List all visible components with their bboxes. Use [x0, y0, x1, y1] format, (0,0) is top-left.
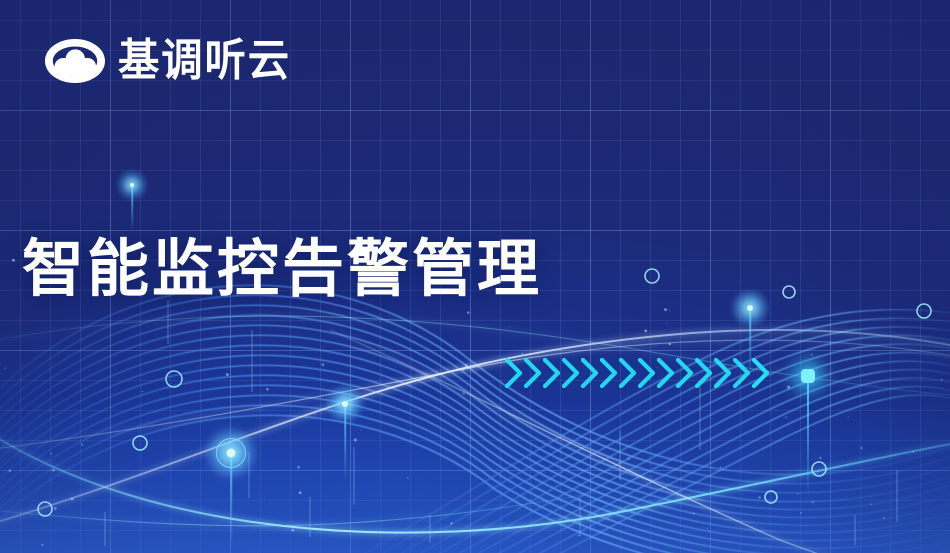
decor-sparkle	[720, 467, 721, 468]
forward-chevron-icon	[524, 358, 541, 388]
decor-sparkle	[297, 466, 300, 469]
decor-sparkle	[266, 388, 268, 390]
decor-sparkle	[407, 477, 409, 479]
decor-sparkle	[693, 512, 695, 514]
decor-node-beam	[344, 404, 346, 482]
decor-sparkle	[657, 367, 658, 368]
brand-name-text: 基调听云	[118, 39, 291, 83]
decor-sparkle	[465, 364, 468, 367]
decor-sparkle	[467, 311, 470, 314]
decor-sparkle	[848, 416, 849, 417]
decor-sparkle	[510, 326, 511, 327]
cloud-in-ellipse-logo-icon	[44, 38, 106, 84]
decor-sparkle	[729, 390, 730, 391]
decor-node-halo	[325, 384, 365, 424]
decor-sparkle	[883, 517, 885, 519]
decor-sparkle	[321, 363, 324, 366]
brand-logo: 基调听云	[44, 38, 302, 84]
decor-sparkle	[664, 308, 667, 311]
decor-ring-circle	[38, 502, 52, 516]
decor-sparkle	[462, 368, 464, 370]
decor-glow-node	[204, 426, 258, 480]
decor-sparkle	[464, 420, 466, 422]
decor-sparkle	[51, 453, 52, 454]
decor-sparkle	[522, 353, 523, 354]
decor-sparkle	[264, 498, 265, 499]
title-slide: 基调听云 智能监控告警管理	[0, 0, 950, 553]
decor-sparkle	[8, 469, 11, 472]
decor-node-beam	[230, 453, 232, 549]
decor-sparkle	[54, 507, 57, 510]
decor-node-halo	[115, 168, 149, 202]
forward-chevron-icon	[752, 358, 769, 388]
forward-chevron-icon	[638, 358, 655, 388]
decor-sparkle	[666, 323, 667, 324]
forward-chevron-icon	[695, 358, 712, 388]
decor-sparkle	[314, 413, 316, 415]
decor-node-core	[227, 449, 236, 458]
decor-sparkle	[71, 498, 74, 501]
decor-sparkle	[668, 309, 670, 311]
decor-sparkle	[354, 438, 357, 441]
decor-sparkle	[360, 429, 361, 430]
decor-sparkle	[941, 379, 943, 381]
decor-mini-beams	[105, 300, 897, 546]
decor-sparkle	[292, 529, 295, 532]
decor-sparkle	[12, 259, 15, 262]
arrow-endpoint-beam	[807, 376, 809, 496]
decor-sparkle	[497, 468, 498, 469]
decor-sparkle	[913, 451, 915, 453]
decor-sparkle	[758, 496, 760, 498]
decor-sparkle	[812, 501, 815, 504]
forward-chevron-icon	[600, 358, 617, 388]
decor-node-core	[342, 401, 348, 407]
decor-sparkle	[41, 544, 43, 546]
decor-sparkle	[450, 522, 453, 525]
decor-ring-circle	[645, 269, 659, 283]
decor-ring-circle	[917, 304, 931, 318]
decor-sparkle	[52, 469, 55, 472]
decor-sparkle	[797, 493, 798, 494]
decor-sparkle	[800, 512, 802, 514]
forward-chevron-icon	[543, 358, 560, 388]
decor-node-halo	[730, 288, 770, 328]
decor-sparkle	[475, 514, 476, 515]
decor-node-core	[130, 183, 134, 187]
decor-ring-circle	[765, 491, 777, 503]
decor-node-beam	[749, 308, 751, 378]
decor-sparkle	[81, 444, 83, 446]
decor-ring-circle	[783, 286, 795, 298]
arrow-endpoint-dot	[801, 369, 815, 383]
decor-sparkle	[819, 457, 822, 460]
decor-sparkle	[668, 343, 671, 346]
decor-ring-circles	[38, 269, 931, 516]
forward-chevron-icon	[714, 358, 731, 388]
decor-sparkle	[860, 447, 862, 449]
decor-sparkle	[728, 368, 730, 370]
forward-chevron-icon	[505, 358, 522, 388]
forward-chevron-icon	[676, 358, 693, 388]
decor-node-beam	[131, 185, 133, 231]
decor-sparkle	[226, 373, 229, 376]
decor-sparkle	[299, 491, 302, 494]
decor-node-ring	[216, 438, 246, 468]
forward-chevron-icon	[562, 358, 579, 388]
decor-sparkle	[810, 353, 813, 356]
decor-sparkle	[142, 391, 143, 392]
decor-sparkle	[707, 528, 708, 529]
decor-sparkle	[787, 386, 790, 389]
decor-sparkle	[578, 535, 580, 537]
forward-chevron-icon	[733, 358, 750, 388]
decor-glow-node	[115, 168, 149, 202]
forward-chevron-icon	[581, 358, 598, 388]
decor-node-core	[747, 305, 753, 311]
decor-sparkle	[462, 392, 465, 395]
decor-ring-circle	[166, 371, 182, 387]
decor-sparkle	[759, 368, 761, 370]
decor-sparkle	[216, 448, 217, 449]
decor-glow-node	[730, 288, 770, 328]
decor-sparkle	[785, 416, 788, 419]
forward-chevron-icon	[619, 358, 636, 388]
forward-arrow-row	[505, 358, 769, 388]
decor-ring-circle	[133, 436, 147, 450]
arrow-endpoint-glow-node	[797, 365, 819, 387]
decor-node-halo	[204, 426, 258, 480]
decor-ring-circle	[812, 462, 826, 476]
forward-chevron-icon	[657, 358, 674, 388]
decor-sparkle	[627, 457, 630, 460]
decor-sparkle	[644, 330, 647, 333]
decor-sparkle	[4, 367, 5, 368]
decor-sparkle	[870, 503, 872, 505]
decor-glow-node	[325, 384, 365, 424]
slide-title: 智能监控告警管理	[22, 238, 542, 301]
